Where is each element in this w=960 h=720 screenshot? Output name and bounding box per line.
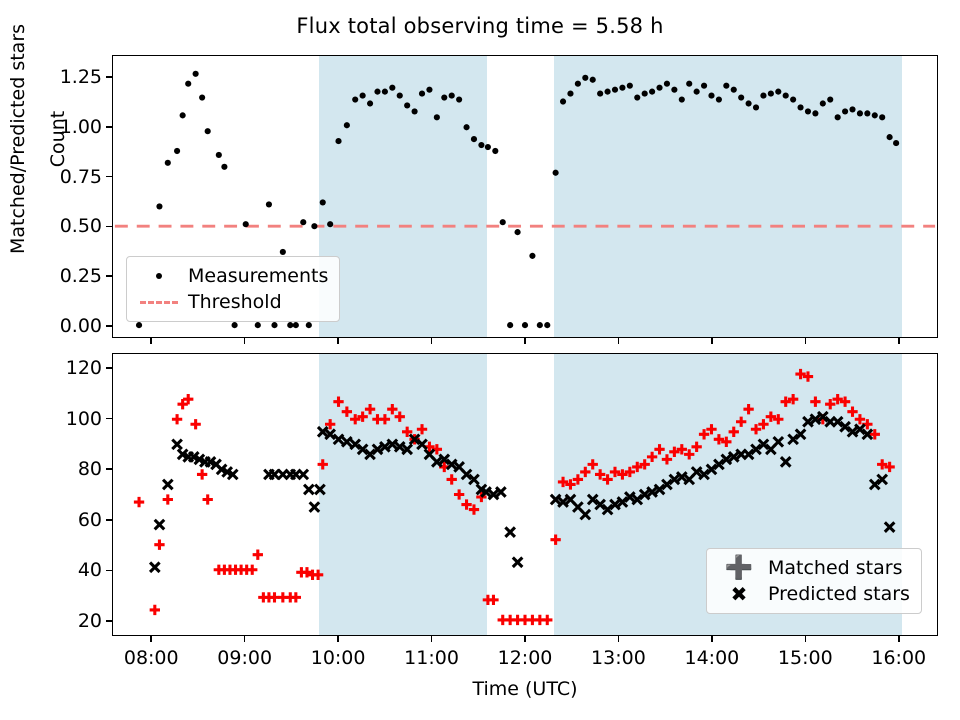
- x-tick-mark: [805, 338, 807, 344]
- x-tick-mark: [711, 636, 713, 642]
- data-point-dot: [597, 91, 603, 97]
- data-point-plus: [647, 452, 657, 462]
- data-point-dot: [842, 108, 848, 114]
- data-point-dot: [306, 322, 312, 328]
- data-point-dot: [553, 170, 559, 176]
- data-point-plus: [333, 397, 343, 407]
- data-point-cross: [155, 520, 165, 530]
- data-point-dot: [327, 221, 333, 227]
- data-point-dot: [679, 96, 685, 102]
- y-tick-mark: [106, 468, 112, 470]
- data-point-dot: [864, 110, 870, 116]
- data-point-plus: [488, 595, 498, 605]
- x-tick-label: 14:00: [684, 647, 739, 669]
- data-point-plus: [662, 454, 672, 464]
- data-point-plus: [342, 407, 352, 417]
- data-point-dot: [537, 322, 543, 328]
- data-point-dot: [311, 223, 317, 229]
- data-point-dot: [397, 92, 403, 98]
- y-tick-mark: [106, 275, 112, 277]
- data-point-cross: [781, 457, 791, 467]
- data-point-dot: [627, 83, 633, 89]
- legend-label-matched-stars: Matched stars: [762, 557, 902, 579]
- data-point-cross: [304, 485, 314, 495]
- data-point-dot: [753, 104, 759, 110]
- data-point-dot: [441, 94, 447, 100]
- data-point-plus: [253, 550, 263, 560]
- data-point-dot: [404, 102, 410, 108]
- data-point-plus: [588, 459, 598, 469]
- x-tick-mark: [150, 338, 152, 344]
- y-tick-mark: [106, 325, 112, 327]
- data-point-dot: [300, 219, 306, 225]
- data-point-dot: [716, 96, 722, 102]
- data-point-dot: [671, 87, 677, 93]
- data-point-dot: [205, 128, 211, 134]
- data-point-plus: [691, 442, 701, 452]
- data-point-dot: [199, 94, 205, 100]
- data-point-plus: [197, 469, 207, 479]
- x-tick-mark: [150, 636, 152, 642]
- data-point-plus: [395, 412, 405, 422]
- y-tick-mark: [106, 367, 112, 369]
- data-point-plus: [810, 397, 820, 407]
- x-tick-mark: [898, 636, 900, 642]
- x-tick-mark: [337, 636, 339, 642]
- x-tick-label: 08:00: [124, 647, 179, 669]
- data-point-dot: [567, 91, 573, 97]
- data-point-cross: [150, 562, 160, 572]
- data-point-plus: [190, 419, 200, 429]
- data-point-dot: [701, 83, 707, 89]
- data-point-dot: [456, 96, 462, 102]
- data-point-dot: [634, 94, 640, 100]
- data-point-dot: [293, 322, 299, 328]
- x-tick-mark: [337, 338, 339, 344]
- data-point-dot: [216, 152, 222, 158]
- data-point-plus: [542, 615, 552, 625]
- data-point-dot: [656, 85, 662, 91]
- data-point-cross: [885, 522, 895, 532]
- data-point-cross: [315, 485, 325, 495]
- data-point-cross: [342, 437, 352, 447]
- data-point-plus: [729, 427, 739, 437]
- x-tick-mark: [805, 636, 807, 642]
- data-point-dot: [360, 92, 366, 98]
- data-point-dot: [590, 77, 596, 83]
- data-point-dot: [723, 83, 729, 89]
- data-point-plus: [150, 605, 160, 615]
- data-point-dot: [271, 322, 277, 328]
- data-point-dot: [544, 322, 550, 328]
- data-point-cross: [581, 510, 591, 520]
- data-point-dot: [797, 104, 803, 110]
- data-point-plus: [172, 414, 182, 424]
- data-point-plus: [247, 565, 257, 575]
- data-point-dot: [694, 89, 700, 95]
- data-point-dot: [243, 221, 249, 227]
- data-point-dot: [738, 94, 744, 100]
- x-tick-label: 16:00: [871, 647, 926, 669]
- x-tick-mark: [524, 636, 526, 642]
- data-point-dot: [731, 87, 737, 93]
- data-point-dot: [887, 134, 893, 140]
- data-point-dot: [382, 89, 388, 95]
- data-point-cross: [298, 470, 308, 480]
- data-point-dot: [419, 91, 425, 97]
- data-point-dot: [492, 148, 498, 154]
- data-point-plus: [580, 467, 590, 477]
- x-tick-mark: [618, 338, 620, 344]
- x-tick-label: 12:00: [498, 647, 553, 669]
- top-panel-legend: Measurements Threshold: [126, 256, 340, 322]
- data-point-plus: [743, 404, 753, 414]
- data-point-dot: [335, 138, 341, 144]
- data-point-dot: [849, 106, 855, 112]
- legend-item-threshold: Threshold: [136, 289, 328, 315]
- cross-marker-icon: ✖: [716, 584, 762, 604]
- data-point-plus: [291, 592, 301, 602]
- data-point-dot: [642, 91, 648, 97]
- data-point-dot: [165, 160, 171, 166]
- data-point-dot: [344, 122, 350, 128]
- x-tick-mark: [618, 636, 620, 642]
- data-point-dot: [790, 96, 796, 102]
- data-point-cross: [172, 440, 182, 450]
- y-tick-label: 100: [66, 408, 102, 430]
- y-tick-label: 20: [78, 610, 102, 632]
- data-point-plus: [847, 407, 857, 417]
- data-point-cross: [505, 527, 515, 537]
- data-point-dot: [872, 112, 878, 118]
- figure-canvas: Flux total observing time = 5.58 h Match…: [0, 0, 960, 720]
- data-point-dot: [760, 92, 766, 98]
- data-point-dot: [857, 110, 863, 116]
- data-point-dot: [612, 87, 618, 93]
- data-point-dot: [320, 199, 326, 205]
- data-point-cross: [774, 437, 784, 447]
- y-tick-mark: [106, 226, 112, 228]
- data-point-dot: [820, 100, 826, 106]
- x-tick-label: 09:00: [217, 647, 272, 669]
- data-point-plus: [447, 474, 457, 484]
- data-point-dot: [434, 114, 440, 120]
- x-tick-mark: [244, 338, 246, 344]
- data-point-cross: [163, 480, 173, 490]
- data-point-dot: [156, 203, 162, 209]
- data-point-dot: [266, 201, 272, 207]
- data-point-plus: [654, 444, 664, 454]
- data-point-dot: [664, 81, 670, 87]
- data-point-plus: [417, 424, 427, 434]
- data-point-dot: [255, 322, 261, 328]
- data-point-cross: [513, 557, 523, 567]
- data-point-dot: [529, 253, 535, 259]
- y-tick-mark: [106, 620, 112, 622]
- data-point-plus: [203, 494, 213, 504]
- data-point-plus: [380, 414, 390, 424]
- x-tick-mark: [244, 636, 246, 642]
- data-point-dot: [280, 249, 286, 255]
- data-point-dot: [708, 92, 714, 98]
- legend-item-measurements: Measurements: [136, 263, 328, 289]
- y-tick-mark: [106, 519, 112, 521]
- y-tick-label: 60: [78, 509, 102, 531]
- data-point-dot: [560, 98, 566, 104]
- data-point-plus: [134, 497, 144, 507]
- data-point-dot: [426, 87, 432, 93]
- x-tick-mark: [711, 338, 713, 344]
- plus-marker-icon: ➕: [716, 557, 762, 580]
- data-point-plus: [163, 494, 173, 504]
- y-tick-label: 0.00: [60, 315, 102, 337]
- data-point-dot: [827, 96, 833, 102]
- x-axis-label: Time (UTC): [112, 678, 938, 700]
- data-point-dot: [649, 89, 655, 95]
- data-point-dot: [507, 322, 513, 328]
- bottom-panel-y-axis-label: Count: [47, 0, 69, 309]
- data-point-cross: [334, 435, 344, 445]
- data-point-dot: [893, 140, 899, 146]
- data-point-dot: [582, 75, 588, 81]
- data-point-cross: [310, 502, 320, 512]
- data-point-dot: [367, 100, 373, 106]
- data-point-plus: [365, 404, 375, 414]
- data-point-dot: [500, 219, 506, 225]
- bottom-panel-legend: ➕ Matched stars ✖ Predicted stars: [706, 548, 922, 614]
- data-point-dot: [374, 89, 380, 95]
- data-point-dot: [185, 81, 191, 87]
- x-tick-label: 11:00: [404, 647, 459, 669]
- x-tick-label: 10:00: [311, 647, 366, 669]
- data-point-dot: [768, 91, 774, 97]
- x-tick-mark: [524, 338, 526, 344]
- data-point-dot: [485, 144, 491, 150]
- x-tick-mark: [431, 338, 433, 344]
- legend-label-measurements: Measurements: [182, 265, 328, 287]
- data-point-plus: [550, 534, 560, 544]
- y-tick-label: 40: [78, 559, 102, 581]
- data-point-dot: [805, 108, 811, 114]
- data-point-plus: [313, 570, 323, 580]
- data-point-dot: [389, 85, 395, 91]
- data-point-dot: [575, 81, 581, 87]
- data-point-plus: [454, 489, 464, 499]
- x-tick-mark: [431, 636, 433, 642]
- data-point-dot: [412, 108, 418, 114]
- data-point-dot: [471, 136, 477, 142]
- data-point-dot: [514, 229, 520, 235]
- dashed-line-marker-icon: [136, 301, 182, 304]
- y-tick-mark: [106, 418, 112, 420]
- x-tick-label: 15:00: [778, 647, 833, 669]
- data-point-plus: [318, 459, 328, 469]
- x-tick-label: 13:00: [591, 647, 646, 669]
- data-point-dot: [136, 322, 142, 328]
- dot-marker-icon: [136, 273, 182, 279]
- data-point-dot: [193, 71, 199, 77]
- data-point-dot: [812, 110, 818, 116]
- data-point-dot: [879, 114, 885, 120]
- y-tick-mark: [106, 176, 112, 178]
- data-point-dot: [463, 124, 469, 130]
- data-point-dot: [619, 85, 625, 91]
- data-point-dot: [478, 142, 484, 148]
- legend-item-matched-stars: ➕ Matched stars: [716, 555, 910, 581]
- data-point-dot: [352, 96, 358, 102]
- x-tick-mark: [898, 338, 900, 344]
- data-point-plus: [154, 540, 164, 550]
- data-point-dot: [180, 112, 186, 118]
- data-point-dot: [449, 92, 455, 98]
- data-point-dot: [287, 322, 293, 328]
- legend-item-predicted-stars: ✖ Predicted stars: [716, 581, 910, 607]
- legend-label-threshold: Threshold: [182, 291, 282, 313]
- top-panel-y-axis-label: Matched/Predicted stars: [7, 0, 29, 309]
- y-tick-mark: [106, 570, 112, 572]
- data-point-plus: [736, 417, 746, 427]
- data-point-dot: [835, 114, 841, 120]
- data-point-dot: [686, 81, 692, 87]
- data-point-dot: [775, 89, 781, 95]
- data-point-dot: [522, 322, 528, 328]
- data-point-dot: [221, 164, 227, 170]
- data-point-dot: [232, 322, 238, 328]
- y-tick-mark: [106, 126, 112, 128]
- figure-title: Flux total observing time = 5.58 h: [0, 14, 960, 38]
- y-tick-mark: [106, 76, 112, 78]
- data-point-plus: [387, 404, 397, 414]
- data-point-dot: [174, 148, 180, 154]
- data-point-dot: [604, 89, 610, 95]
- data-point-dot: [783, 92, 789, 98]
- y-tick-label: 120: [66, 357, 102, 379]
- y-tick-label: 80: [78, 458, 102, 480]
- data-point-dot: [746, 100, 752, 106]
- legend-label-predicted-stars: Predicted stars: [762, 583, 910, 605]
